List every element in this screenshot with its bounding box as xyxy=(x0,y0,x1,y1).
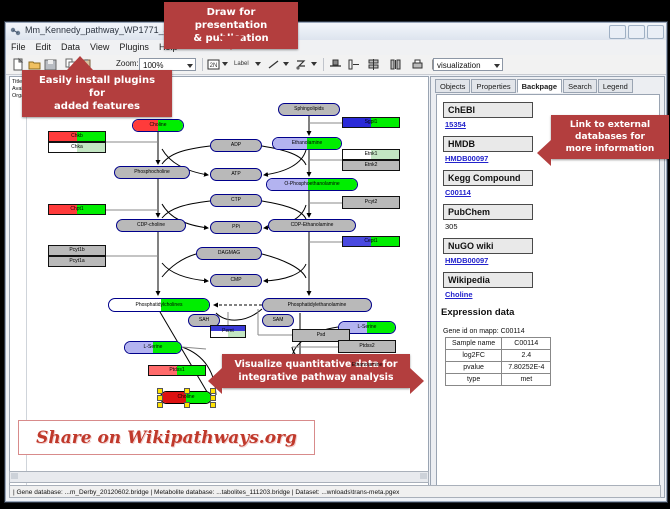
node-label: Ptdss2 xyxy=(359,344,374,349)
side-panel-tabs: Objects Properties Backpage Search Legen… xyxy=(435,79,634,93)
expression-gene-id: Gene id on mapp: C00114 xyxy=(443,328,659,335)
node-chkb[interactable]: Chkb xyxy=(48,131,106,142)
stack-icon[interactable] xyxy=(366,57,381,72)
node-dagmag[interactable]: DAGMAG xyxy=(196,247,262,260)
node-label: Psd xyxy=(317,333,326,338)
node-label: Ptdss1 xyxy=(169,368,184,373)
node-label: Pcyt1a xyxy=(69,259,84,264)
node-label: O-Phosphoethanolamine xyxy=(284,182,339,187)
callout-visualize-arrow-right-icon xyxy=(410,368,424,394)
node-ptdss1[interactable]: Ptdss1 xyxy=(148,365,206,376)
node-ctp[interactable]: CTP xyxy=(210,194,262,207)
datanode-dropdown-icon[interactable] xyxy=(221,57,230,70)
node-label: CDP-choline xyxy=(137,223,165,228)
callout-share-text: Share on Wikipathways.org xyxy=(36,428,297,448)
node-pcyt1b[interactable]: Pcyt1b xyxy=(48,245,106,256)
tab-objects[interactable]: Objects xyxy=(435,79,470,93)
db-header-pubchem: PubChem xyxy=(443,204,533,220)
svg-text:2N: 2N xyxy=(210,63,218,69)
callout-link-arrow-icon xyxy=(537,140,551,166)
label-dropdown-icon[interactable] xyxy=(254,57,263,70)
node-label: SAM xyxy=(273,318,284,323)
callout-draw-line1: Draw for presentation xyxy=(172,6,290,32)
node-label: Etnk2 xyxy=(365,163,378,168)
layout-icon[interactable] xyxy=(388,57,403,72)
node-label: Ethanolamine xyxy=(352,363,383,368)
callout-visualize-arrow-left-icon xyxy=(208,368,222,394)
node-adp[interactable]: ADP xyxy=(210,139,262,152)
tab-properties[interactable]: Properties xyxy=(471,79,515,93)
db-header-wikipedia: Wikipedia xyxy=(443,272,533,288)
minimize-button[interactable] xyxy=(609,25,626,39)
db-link-kegg[interactable]: C00114 xyxy=(445,188,659,197)
node-label: DAGMAG xyxy=(218,251,240,256)
node-atp[interactable]: ATP xyxy=(210,168,262,181)
status-bar: | Gene database: ...m_Derby_20120602.bri… xyxy=(9,485,661,498)
node-choline-top[interactable]: Choline xyxy=(132,119,184,132)
node-label: Sphingolipids xyxy=(294,107,324,112)
node-label: Phosphatidylcholines xyxy=(136,303,183,308)
zoom-label: Zoom: xyxy=(116,59,139,68)
callout-plugins-arrow-icon xyxy=(67,56,93,70)
node-label: Ethanolamine xyxy=(292,141,323,146)
node-cdp-ethanolamine[interactable]: CDP-Ethanolamine xyxy=(268,219,356,232)
node-chpt1[interactable]: Chpt1 xyxy=(48,204,106,215)
expression-heading: Expression data xyxy=(441,307,659,318)
table-row: Sample name C00114 xyxy=(446,338,551,350)
node-ppi[interactable]: PPi xyxy=(210,221,262,234)
node-phosphatidylethanolamine[interactable]: Phosphatidylethanolamine xyxy=(262,298,372,312)
tab-backpage[interactable]: Backpage xyxy=(517,79,562,93)
db-link-wikipedia[interactable]: Choline xyxy=(445,290,659,299)
node-label: Phosphatidylethanolamine xyxy=(288,303,347,308)
node-chka[interactable]: Chka xyxy=(48,142,106,153)
db-header-hmdb: HMDB xyxy=(443,136,533,152)
align-icon[interactable] xyxy=(328,57,343,72)
tab-legend[interactable]: Legend xyxy=(598,79,633,93)
node-pcyt1a[interactable]: Pcyt1a xyxy=(48,256,106,267)
callout-link-line2: databases for xyxy=(559,131,661,143)
node-label: PPi xyxy=(232,225,240,230)
node-label: SAH xyxy=(199,318,209,323)
db-header-chebi: ChEBI xyxy=(443,102,533,118)
node-cmp[interactable]: CMP xyxy=(210,274,262,287)
db-header-kegg: Kegg Compound xyxy=(443,170,533,186)
cell-key: pvalue xyxy=(446,362,502,374)
node-label: Sgpl1 xyxy=(365,120,378,125)
node-label: Phosphocholine xyxy=(134,170,170,175)
node-label: Chka xyxy=(71,145,83,150)
title-bar: Mm_Kennedy_pathway_WP1771_45176.gpml xyxy=(6,23,666,41)
node-sam[interactable]: SAM xyxy=(262,314,294,327)
callout-plugins-line1: Easily install plugins for xyxy=(30,74,164,100)
menu-item-view[interactable]: View xyxy=(85,40,114,52)
table-row: log2FC 2.4 xyxy=(446,350,551,362)
db-link-nugo[interactable]: HMDB00097 xyxy=(445,256,659,265)
node-label: Etnk1 xyxy=(365,152,378,157)
line-icon[interactable] xyxy=(266,57,281,72)
cell-value: 2.4 xyxy=(502,350,551,362)
callout-plugins: Easily install plugins for added feature… xyxy=(22,70,172,117)
node-label: CTP xyxy=(231,198,241,203)
table-row: type met xyxy=(446,374,551,386)
callout-share: Share on Wikipathways.org xyxy=(18,420,315,455)
node-phosphocholine[interactable]: Phosphocholine xyxy=(114,166,190,179)
screenshot-root: Mm_Kennedy_pathway_WP1771_45176.gpml Fil… xyxy=(0,0,670,509)
menu-item-edit[interactable]: Edit xyxy=(31,40,57,52)
node-label: ATP xyxy=(231,172,240,177)
cell-key: type xyxy=(446,374,502,386)
node-label: CDP-Ethanolamine xyxy=(291,223,334,228)
node-label: Cept1 xyxy=(364,239,377,244)
table-row: pvalue 7.80252E-4 xyxy=(446,362,551,374)
node-phosphatidylcholines[interactable]: Phosphatidylcholines xyxy=(108,298,210,312)
canvas-horizontal-scrollbar[interactable] xyxy=(9,471,429,483)
visualization-select[interactable]: visualization xyxy=(433,58,503,71)
cell-key: log2FC xyxy=(446,350,502,362)
cell-value: met xyxy=(502,374,551,386)
line-dropdown-icon[interactable] xyxy=(282,57,291,70)
callout-visualize: Visualize quantitative data for integrat… xyxy=(222,354,410,388)
window-controls[interactable] xyxy=(609,25,664,39)
node-label: L-Serine xyxy=(358,325,377,330)
tab-search[interactable]: Search xyxy=(563,79,597,93)
cell-value: C00114 xyxy=(502,338,551,350)
callout-link-line1: Link to external xyxy=(559,119,661,131)
menu-item-file[interactable]: File xyxy=(6,40,31,52)
label-tool[interactable]: Label xyxy=(234,57,249,72)
callout-link: Link to external databases for more info… xyxy=(551,115,669,159)
group-icon[interactable] xyxy=(346,57,361,72)
callout-draw-arrow-icon xyxy=(218,36,244,50)
node-label: L-Serine xyxy=(144,345,163,350)
node-etnk2[interactable]: Etnk2 xyxy=(342,160,400,171)
anchor-icon[interactable] xyxy=(294,57,309,72)
node-etnk1[interactable]: Etnk1 xyxy=(342,149,400,160)
node-label: CMP xyxy=(230,278,241,283)
node-label: Choline xyxy=(178,395,195,400)
menu-bar: File Edit Data View Plugins Help xyxy=(6,40,666,56)
node-ptdss2[interactable]: Ptdss2 xyxy=(338,340,396,353)
node-label: Pcyt2 xyxy=(365,200,378,205)
node-label: Pemt xyxy=(222,329,234,334)
node-sgpl1[interactable]: Sgpl1 xyxy=(342,117,400,128)
datanode-icon[interactable]: 2N xyxy=(206,57,221,72)
node-label: Pcyt1b xyxy=(69,248,84,253)
db-header-nugo: NuGO wiki xyxy=(443,238,533,254)
cell-value: 7.80252E-4 xyxy=(502,362,551,374)
node-sphingolipids[interactable]: Sphingolipids xyxy=(278,103,340,116)
node-label: Chkb xyxy=(71,134,83,139)
maximize-button[interactable] xyxy=(628,25,645,39)
cell-key: Sample name xyxy=(446,338,502,350)
callout-visualize-line2: integrative pathway analysis xyxy=(230,371,402,384)
node-cept1[interactable]: Cept1 xyxy=(342,236,400,247)
db-value-pubchem: 305 xyxy=(445,222,659,231)
node-ethanolamine-top[interactable]: Ethanolamine xyxy=(272,137,342,150)
app-icon xyxy=(10,26,21,37)
menu-item-plugins[interactable]: Plugins xyxy=(114,40,154,52)
node-pcyt2[interactable]: Pcyt2 xyxy=(342,196,400,209)
node-cdp-choline[interactable]: CDP-choline xyxy=(116,219,186,232)
expression-table: Sample name C00114 log2FC 2.4 pvalue 7.8… xyxy=(445,337,551,386)
node-pemt[interactable]: Pemt xyxy=(210,325,246,338)
callout-link-line3: more information xyxy=(559,143,661,155)
print-icon[interactable] xyxy=(410,57,425,72)
node-l-serine-left[interactable]: L-Serine xyxy=(124,341,182,354)
node-label: Chpt1 xyxy=(70,207,83,212)
close-button[interactable] xyxy=(647,25,664,39)
menu-item-data[interactable]: Data xyxy=(56,40,85,52)
callout-plugins-line2: added features xyxy=(30,100,164,113)
anchor-dropdown-icon[interactable] xyxy=(310,57,319,70)
node-label: ADP xyxy=(231,143,241,148)
node-o-phosphoethanolamine[interactable]: O-Phosphoethanolamine xyxy=(266,178,358,191)
node-label: Choline xyxy=(150,123,167,128)
